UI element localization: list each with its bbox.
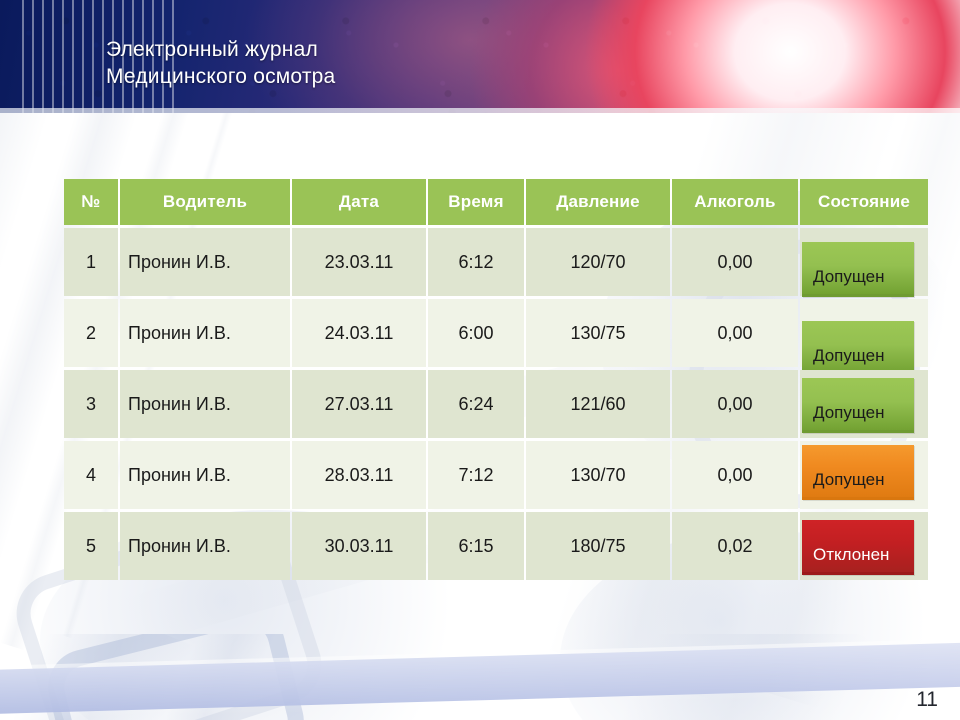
cell-driver: Пронин И.В. (120, 441, 290, 509)
cell-alcohol: 0,00 (672, 299, 798, 367)
cell-date: 27.03.11 (292, 370, 426, 438)
cell-date: 28.03.11 (292, 441, 426, 509)
cell-pressure: 120/70 (526, 228, 670, 296)
status-badge[interactable]: Допущен (802, 378, 914, 433)
cell-time: 6:00 (428, 299, 524, 367)
column-header-date[interactable]: Дата (292, 179, 426, 225)
status-badge-label: Допущен (813, 268, 885, 285)
page-number: 11 (916, 688, 938, 712)
cell-pressure: 130/75 (526, 299, 670, 367)
cell-date: 24.03.11 (292, 299, 426, 367)
status-badge-label: Допущен (813, 404, 885, 421)
status-badge[interactable]: Допущен (802, 321, 914, 376)
column-header-time[interactable]: Время (428, 179, 524, 225)
cell-pressure: 180/75 (526, 512, 670, 580)
status-badge-label: Допущен (813, 347, 885, 364)
cell-date: 23.03.11 (292, 228, 426, 296)
cell-alcohol: 0,00 (672, 370, 798, 438)
cell-num: 1 (64, 228, 118, 296)
cell-alcohol: 0,00 (672, 228, 798, 296)
status-badge-label: Отклонен (813, 546, 889, 563)
cell-num: 5 (64, 512, 118, 580)
cell-state: Допущен (800, 441, 928, 509)
cell-num: 4 (64, 441, 118, 509)
cell-driver: Пронин И.В. (120, 299, 290, 367)
cell-time: 6:15 (428, 512, 524, 580)
header-banner: Электронный журнал Медицинского осмотра (0, 0, 960, 113)
table-row[interactable]: 1 Пронин И.В. 23.03.11 6:12 120/70 0,00 … (64, 228, 928, 296)
table-row[interactable]: 3 Пронин И.В. 27.03.11 6:24 121/60 0,00 … (64, 370, 928, 438)
page-title: Электронный журнал Медицинского осмотра (106, 36, 335, 90)
table-row[interactable]: 5 Пронин И.В. 30.03.11 6:15 180/75 0,02 … (64, 512, 928, 580)
cell-time: 7:12 (428, 441, 524, 509)
table-body: 1 Пронин И.В. 23.03.11 6:12 120/70 0,00 … (64, 228, 928, 580)
medical-log-table-wrapper: № Водитель Дата Время Давление Алкоголь … (62, 176, 920, 583)
column-header-num[interactable]: № (64, 179, 118, 225)
cell-date: 30.03.11 (292, 512, 426, 580)
status-badge-label: Допущен (813, 471, 885, 488)
cell-state: Допущен (800, 370, 928, 438)
cell-driver: Пронин И.В. (120, 228, 290, 296)
status-badge[interactable]: Допущен (802, 242, 914, 297)
column-header-alcohol[interactable]: Алкоголь (672, 179, 798, 225)
cell-state: Отклонен (800, 512, 928, 580)
cell-driver: Пронин И.В. (120, 512, 290, 580)
cell-num: 3 (64, 370, 118, 438)
cell-alcohol: 0,02 (672, 512, 798, 580)
cell-alcohol: 0,00 (672, 441, 798, 509)
cell-driver: Пронин И.В. (120, 370, 290, 438)
status-badge[interactable]: Допущен (802, 445, 914, 500)
cell-state: Допущен (800, 228, 928, 296)
cell-time: 6:24 (428, 370, 524, 438)
cell-pressure: 121/60 (526, 370, 670, 438)
status-badge[interactable]: Отклонен (802, 520, 914, 575)
cell-time: 6:12 (428, 228, 524, 296)
cell-state: Допущен (800, 299, 928, 367)
banner-bottom-edge (0, 108, 960, 113)
slide: Электронный журнал Медицинского осмотра … (0, 0, 960, 720)
table-header-row: № Водитель Дата Время Давление Алкоголь … (64, 179, 928, 225)
column-header-pressure[interactable]: Давление (526, 179, 670, 225)
cell-num: 2 (64, 299, 118, 367)
footer-band: 11 (0, 634, 960, 720)
column-header-driver[interactable]: Водитель (120, 179, 290, 225)
table-row[interactable]: 4 Пронин И.В. 28.03.11 7:12 130/70 0,00 … (64, 441, 928, 509)
table-row[interactable]: 2 Пронин И.В. 24.03.11 6:00 130/75 0,00 … (64, 299, 928, 367)
column-header-state[interactable]: Состояние (800, 179, 928, 225)
cell-pressure: 130/70 (526, 441, 670, 509)
medical-log-table: № Водитель Дата Время Давление Алкоголь … (62, 176, 930, 583)
